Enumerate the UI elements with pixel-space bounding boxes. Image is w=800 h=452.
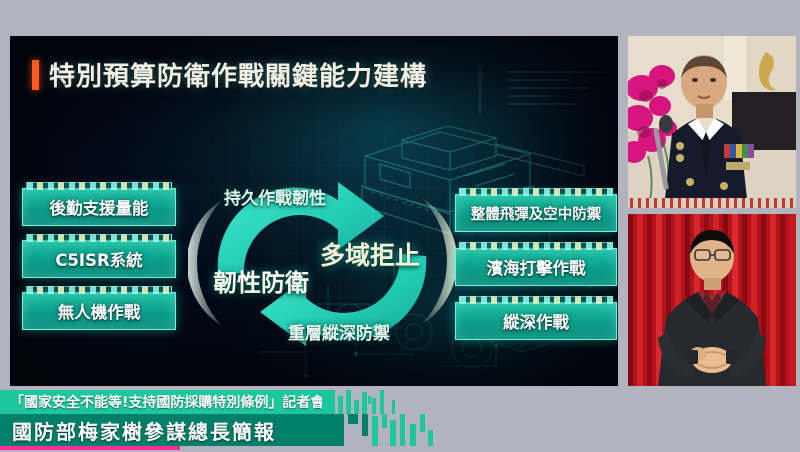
capability-pill-depth-operations[interactable]: 縱深作戰: [455, 302, 617, 340]
capability-pill-littoral-strike[interactable]: 濱海打擊作戰: [455, 248, 617, 286]
capability-pill-label: 濱海打擊作戰: [487, 255, 586, 279]
presentation-slide: 特別預算防衛作戰關鍵能力建構: [10, 36, 618, 386]
title-accent-bar: [32, 60, 39, 90]
capability-pill-label: 縱深作戰: [503, 309, 569, 333]
cycle-label-top: 持久作戰韌性: [224, 184, 326, 209]
capability-pill-air-missile-defense[interactable]: 整體飛彈及空中防禦: [455, 194, 617, 232]
frame-edge-left: [0, 0, 10, 390]
lower-third-speaker-bar: 國防部梅家樹參謀總長簡報: [0, 414, 330, 446]
capability-pill-label: 後勤支援量能: [50, 195, 149, 219]
lower-third-pixel-pattern: [322, 390, 472, 446]
slide-title-row: 特別預算防衛作戰關鍵能力建構: [32, 56, 427, 93]
capability-pill-logistics[interactable]: 後勤支援量能: [22, 188, 176, 226]
capability-pill-label: C5ISR系統: [55, 247, 142, 271]
capability-pill-label: 無人機作戰: [58, 299, 141, 323]
frame-edge-middle: [618, 0, 628, 390]
lower-third-event-text: 「國家安全不能等!支持國防採購特別條例」記者會: [10, 392, 324, 412]
frame-edge-top: [0, 0, 800, 36]
page-title: 特別預算防衛作戰關鍵能力建構: [49, 56, 427, 93]
frame-photo-gap: [628, 208, 796, 214]
capability-pill-label: 整體飛彈及空中防禦: [471, 203, 602, 224]
cycle-label-bottom: 重層縱深防禦: [288, 319, 390, 344]
lower-third-event-bar: 「國家安全不能等!支持國防採購特別條例」記者會: [0, 390, 330, 414]
lower-third-underline: [0, 446, 180, 450]
frame-edge-bottom: [0, 386, 800, 390]
officer-photo: [628, 36, 796, 208]
lower-third-banner: 「國家安全不能等!支持國防採購特別條例」記者會 國防部梅家樹參謀總長簡報: [0, 390, 800, 452]
capability-pill-c5isr[interactable]: C5ISR系統: [22, 240, 176, 278]
cycle-label-right: 多域拒止: [320, 236, 420, 272]
lower-third-speaker-text: 國防部梅家樹參謀總長簡報: [12, 416, 276, 445]
broadcast-frame: 特別預算防衛作戰關鍵能力建構: [0, 0, 800, 452]
frame-edge-right: [796, 0, 800, 390]
cycle-label-left: 韌性防衛: [213, 263, 309, 298]
interpreter-photo: [628, 214, 796, 386]
video-feed-interpreter: [628, 214, 796, 386]
capability-pill-uav[interactable]: 無人機作戰: [22, 292, 176, 330]
video-feed-speaker: [628, 36, 796, 208]
